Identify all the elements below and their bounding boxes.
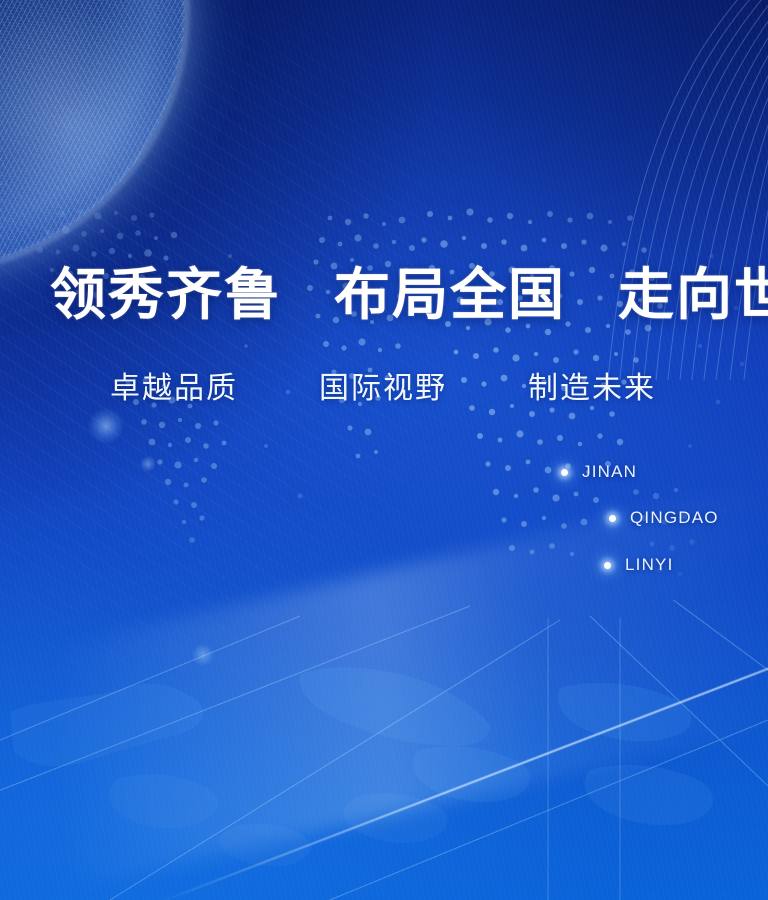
city-marker-linyi: LINYI — [604, 555, 674, 575]
city-dot-marker — [609, 515, 616, 522]
bokeh-orb-top — [192, 644, 214, 666]
subtitle-segment-2: 国际视野 — [319, 371, 447, 407]
bokeh-orb-small — [140, 456, 156, 472]
globe-surface-texture — [0, 0, 185, 270]
background-radial-glow — [0, 0, 768, 900]
page-title: 领秀齐鲁 布局全国 走向世界 — [50, 264, 768, 328]
city-marker-jinan: JINAN — [561, 462, 637, 482]
globe-icon — [0, 0, 185, 270]
headline-segment-3: 走向世界 — [618, 264, 768, 328]
city-marker-qingdao: QINGDAO — [609, 508, 719, 528]
background-vignette — [0, 0, 768, 900]
background-streak-lines — [0, 0, 768, 900]
headline-segment-2: 布局全国 — [334, 264, 566, 328]
city-label-qingdao: QINGDAO — [630, 508, 719, 528]
city-label-linyi: LINYI — [625, 555, 674, 575]
light-ray-thin-line — [150, 583, 768, 900]
background-gradient — [0, 0, 768, 900]
background-hatch-texture — [0, 0, 768, 900]
headline-segment-1: 领秀齐鲁 — [50, 264, 282, 328]
bokeh-orb-left — [88, 408, 124, 444]
subtitle-segment-3: 制造未来 — [528, 371, 656, 407]
globe-surface — [0, 0, 185, 270]
city-dot-marker — [561, 469, 568, 476]
city-dot-marker — [604, 562, 611, 569]
hero-banner: 领秀齐鲁 布局全国 走向世界 卓越品质 国际视野 制造未来 JINAN QING… — [0, 0, 768, 900]
page-subtitle: 卓越品质 国际视野 制造未来 — [110, 371, 656, 407]
grid-icon — [0, 600, 768, 900]
globe-atmosphere-limb — [0, 0, 188, 273]
subtitle-segment-1: 卓越品质 — [110, 371, 238, 407]
city-label-jinan: JINAN — [582, 462, 637, 482]
